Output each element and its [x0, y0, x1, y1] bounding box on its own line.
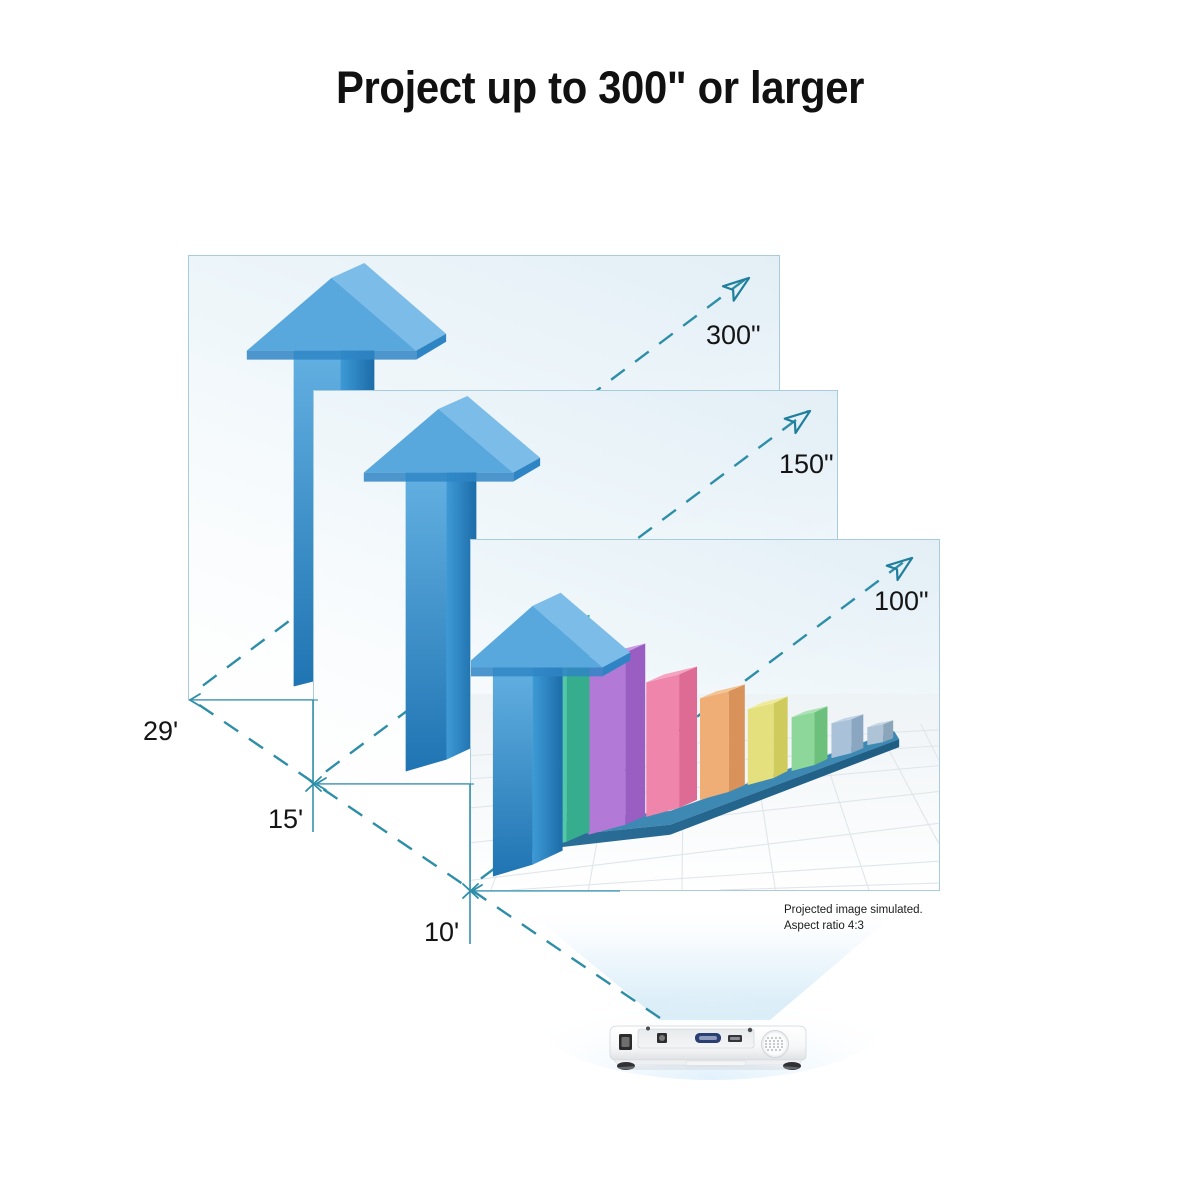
screw-icon [646, 1027, 650, 1031]
power-inlet-icon [619, 1034, 632, 1050]
hdmi-port-icon [728, 1035, 742, 1042]
distance-label-29ft: 29' [143, 716, 178, 747]
screw-icon [748, 1028, 752, 1032]
screen-size-label-300: 300" [706, 320, 761, 351]
s-video-port-icon [657, 1033, 667, 1043]
screen-size-label-150: 150" [779, 449, 834, 480]
disclaimer-text: Projected image simulated. Aspect ratio … [784, 902, 923, 934]
promo-graphic: Project up to 300" or larger [0, 0, 1200, 1200]
tiled-floor [471, 694, 939, 890]
projector [600, 1012, 816, 1070]
speaker-grille-icon [762, 1031, 789, 1058]
page-title: Project up to 300" or larger [42, 62, 1158, 114]
distance-label-15ft: 15' [268, 804, 303, 835]
vga-port-icon [695, 1033, 721, 1043]
screen-100 [470, 539, 940, 891]
screen-size-label-100: 100" [874, 586, 929, 617]
distance-label-10ft: 10' [424, 917, 459, 948]
